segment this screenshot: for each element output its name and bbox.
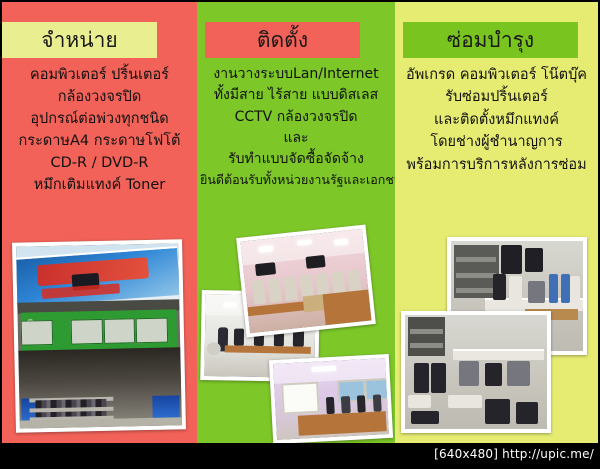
rack-shelf <box>410 329 442 334</box>
repair-line-2: รับซ่อมปริ้นเตอร์ <box>398 86 595 108</box>
workshop2-tower-3 <box>411 411 439 425</box>
lab2-fan <box>207 342 222 355</box>
signboard-product-1 <box>71 319 103 344</box>
signboard-product-2 <box>103 319 135 344</box>
install-line-1: งานวางระบบLan/Internet <box>200 64 392 85</box>
workshop2-tower-4 <box>485 399 511 424</box>
lab2-lamp-1 <box>223 303 236 308</box>
column-install-header: ติดตั้ง <box>205 22 360 58</box>
sell-line-1: คอมพิวเตอร์ ปริ้นเตอร์ <box>5 64 194 86</box>
workshop2-tower-5 <box>516 402 539 425</box>
workshop2-bench <box>453 349 544 360</box>
lab3-scene <box>273 358 389 440</box>
repair-line-5: พร้อมการบริการหลังการซ่อม <box>398 154 595 176</box>
lab3-monitor <box>373 395 382 412</box>
sell-line-2: กล้องวงจรปิด <box>5 86 194 108</box>
watermark-text: [640x480] http://upic.me/ <box>434 447 594 461</box>
workshop1-monitor-2 <box>525 248 543 272</box>
workshop2-panel <box>448 395 482 409</box>
computer-lab-photo-1 <box>236 224 376 337</box>
footer-bar: [640x480] http://upic.me/ <box>0 443 600 469</box>
column-sell-header-label: จำหน่าย <box>41 30 117 51</box>
workshop2-printer-2 <box>485 363 502 386</box>
workshop1-box-2 <box>561 274 570 303</box>
install-line-4: และ <box>200 128 392 149</box>
shop-interior <box>18 347 182 429</box>
column-repair-body: อัพเกรด คอมพิวเตอร์ โน๊ตบุ๊ค รับซ่อมปริ้… <box>395 64 598 176</box>
workshop1-box-1 <box>549 274 558 303</box>
column-sell: จำหน่าย คอมพิวเตอร์ ปริ้นเตอร์ กล้องวงจร… <box>2 2 197 443</box>
sell-line-3: อุปกรณ์ต่อพ่วงทุกชนิด <box>5 108 194 130</box>
workshop2-tower-2 <box>431 363 447 393</box>
lab1-chair <box>267 278 282 303</box>
billboard-red-subtext <box>41 284 119 299</box>
column-repair: ซ่อมบำรุง อัพเกรด คอมพิวเตอร์ โน๊ตบุ๊ค ร… <box>395 2 598 443</box>
rack-shelf <box>456 288 495 293</box>
column-install-body: งานวางระบบLan/Internet ทั้งมีสาย ไร้สาย … <box>197 64 395 189</box>
workshop2-wall-rack <box>408 317 445 356</box>
lab2-desk <box>225 345 311 354</box>
workshop1-box-3 <box>570 276 581 302</box>
workshop1-tower-3 <box>528 281 545 303</box>
workshop1-tower-2 <box>509 276 522 302</box>
sell-line-6: หมึกเติมแทงค์ Toner <box>5 174 194 196</box>
rack-shelf <box>456 273 495 278</box>
lab3-monitor <box>357 396 366 413</box>
column-install-header-label: ติดตั้ง <box>257 30 308 51</box>
install-line-6: ยินดีต้อนรับทั้งหน่วยงานรัฐและเอกชน <box>200 170 392 189</box>
workshop2-part-tray <box>408 395 431 409</box>
repair-line-3: และติดตั้งหมึกแทงค์ <box>398 109 595 131</box>
column-sell-header: จำหน่าย <box>2 22 157 58</box>
sell-line-4: กระดาษA4 กระดาษโฟโต้ <box>5 130 194 152</box>
rack-shelf <box>456 257 495 262</box>
repair-line-1: อัพเกรด คอมพิวเตอร์ โน๊ตบุ๊ค <box>398 64 595 86</box>
lab1-scene <box>241 229 372 333</box>
green-signboard <box>21 309 177 352</box>
column-sell-photos <box>2 229 197 443</box>
column-repair-photos <box>395 229 598 443</box>
lab3-desk <box>298 411 386 435</box>
lab3-monitor <box>341 396 350 413</box>
lab2-monitor <box>234 329 245 346</box>
lab1-wall-monitor-2 <box>306 255 325 269</box>
sell-line-5: CD-R / DVD-R <box>5 152 194 174</box>
workshop-photo-2 <box>401 311 551 433</box>
repair-line-4: โดยช่างผู้ชำนาญการ <box>398 131 595 153</box>
columns-container: จำหน่าย คอมพิวเตอร์ ปริ้นเตอร์ กล้องวงจร… <box>2 2 598 443</box>
lab1-chair <box>283 277 298 302</box>
computer-lab-photo-3 <box>269 354 393 443</box>
workshop1-monitor-1 <box>501 245 522 274</box>
storefront-photo <box>12 239 186 433</box>
lab1-wall-monitor-1 <box>255 262 276 276</box>
column-repair-header: ซ่อมบำรุง <box>403 22 578 58</box>
column-install-photos <box>197 229 395 443</box>
storefront-scene <box>16 243 182 428</box>
signboard-product-4 <box>21 320 53 345</box>
column-sell-body: คอมพิวเตอร์ ปริ้นเตอร์ กล้องวงจรปิด อุปก… <box>2 64 197 196</box>
column-install: ติดตั้ง งานวางระบบLan/Internet ทั้งมีสาย… <box>197 2 395 443</box>
install-line-3: CCTV กล้องวงจรปิด <box>200 107 392 128</box>
workshop2-printer-3 <box>507 361 530 386</box>
lab3-monitor <box>326 397 335 414</box>
workshop2-printer-1 <box>459 361 479 386</box>
workshop1-tower-1 <box>493 274 506 300</box>
lab1-chair <box>251 280 266 305</box>
banner-right <box>152 396 180 420</box>
column-repair-header-label: ซ่อมบำรุง <box>447 30 534 51</box>
rack-shelf <box>410 343 442 348</box>
install-line-5: รับทำแบบจัดซื้อจัดจ้าง <box>200 149 392 170</box>
workshop2-tower-1 <box>414 363 430 393</box>
lab2-monitor <box>293 330 304 347</box>
signboard-product-3 <box>136 318 168 343</box>
lab3-whiteboard <box>281 381 320 414</box>
workshop2-scene <box>405 315 547 429</box>
install-line-2: ทั้งมีสาย ไร้สาย แบบดิสเลส <box>200 85 392 106</box>
workshop1-shelf-rack <box>454 245 499 298</box>
lab1-desk-2 <box>322 289 371 325</box>
poster: จำหน่าย คอมพิวเตอร์ ปริ้นเตอร์ กล้องวงจร… <box>0 0 600 469</box>
